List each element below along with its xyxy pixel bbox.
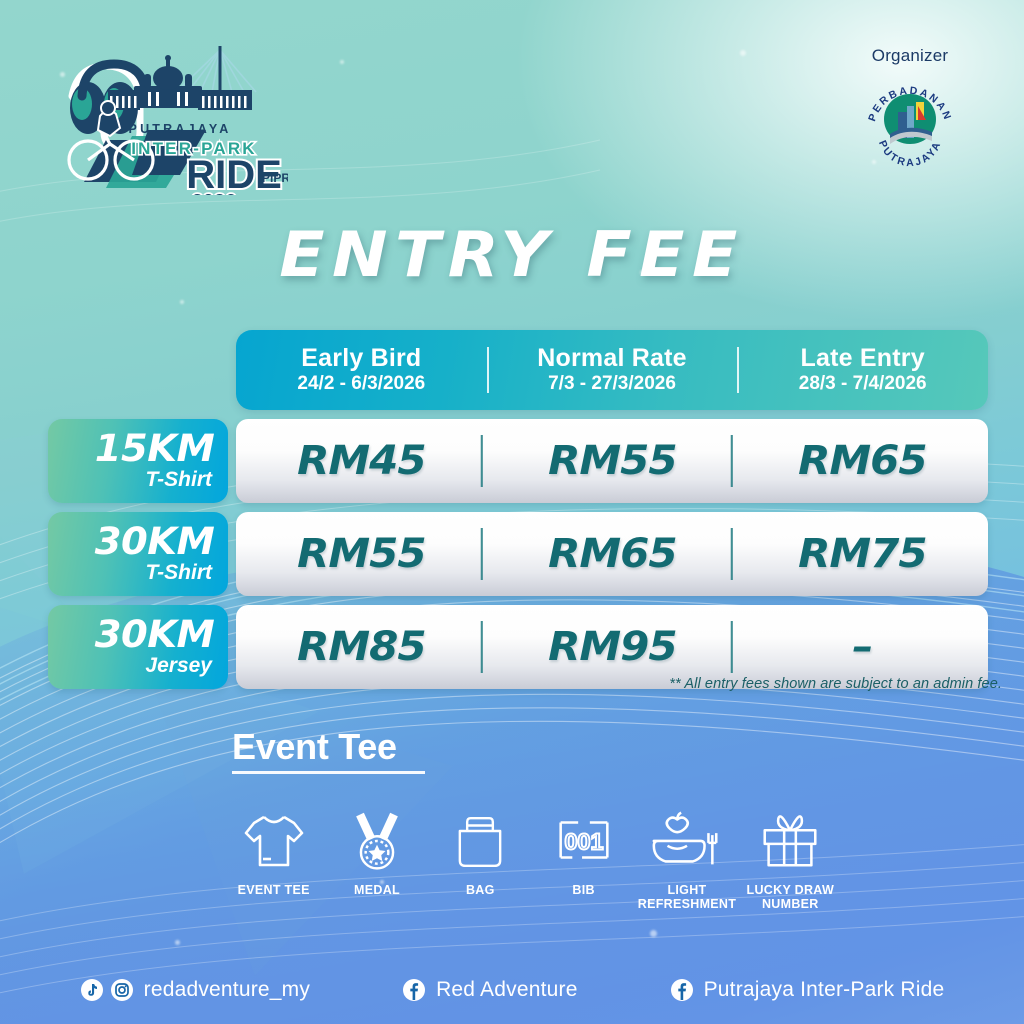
price-cell: RM95 [480, 624, 743, 670]
entry-fee-table: Early Bird 24/2 - 6/3/2026 Normal Rate 7… [48, 330, 988, 689]
row-item-type: T-Shirt [146, 561, 213, 584]
column-dates: 24/2 - 6/3/2026 [236, 373, 487, 395]
entitlement-item: 001 BIB [532, 793, 635, 912]
price-cell: RM45 [230, 438, 493, 484]
entitlement-label: LUCKY DRAW NUMBER [739, 883, 842, 912]
logo-line1: PUTRAJAYA [129, 122, 232, 136]
table-header-row: Early Bird 24/2 - 6/3/2026 Normal Rate 7… [236, 330, 988, 410]
entitlement-item: BAG [429, 793, 532, 912]
entitlement-icon-list: EVENT TEE MEDAL BAG [222, 793, 842, 912]
sparkle [180, 300, 184, 304]
facebook-icon[interactable] [402, 978, 426, 1002]
social-group[interactable]: Putrajaya Inter-Park Ride [670, 978, 945, 1002]
row-price-group: RM55 RM65 RM75 [236, 512, 988, 596]
tiktok-icon[interactable] [80, 978, 104, 1002]
price-cell: – [731, 624, 994, 670]
entitlement-label: LIGHT REFRESHMENT [635, 883, 738, 912]
table-column-header: Late Entry 28/3 - 7/4/2026 [737, 345, 988, 395]
table-row: 15KM T-Shirt RM45 RM55 RM65 [48, 419, 988, 503]
price-cell: RM85 [230, 624, 493, 670]
table-column-header: Early Bird 24/2 - 6/3/2026 [236, 345, 487, 395]
bib-icon: 001 [532, 793, 635, 875]
social-handle[interactable]: Red Adventure [436, 978, 578, 1002]
column-title: Normal Rate [487, 345, 738, 371]
entitlement-item: MEDAL [325, 793, 428, 912]
price-cell: RM55 [230, 531, 493, 577]
sparkle [650, 930, 657, 937]
entitlement-item: EVENT TEE [222, 793, 325, 912]
event-logo: PUTRAJAYA INTER-PARK RIDE PIPR 2026 [48, 30, 288, 195]
table-row: 30KM T-Shirt RM55 RM65 RM75 [48, 512, 988, 596]
table-column-header: Normal Rate 7/3 - 27/3/2026 [487, 345, 738, 395]
row-category-label: 30KM T-Shirt [48, 512, 228, 596]
entitlement-label: EVENT TEE [222, 883, 325, 897]
tshirt-icon [222, 793, 325, 875]
event-tee-underline [232, 771, 425, 774]
price-cell: RM65 [480, 531, 743, 577]
row-distance: 30KM [95, 524, 215, 559]
organizer-block: Organizer PERBADANAN PUTRAJAYA [830, 46, 990, 168]
column-title: Late Entry [737, 345, 988, 371]
social-group[interactable]: redadventure_my [80, 978, 310, 1002]
column-dates: 28/3 - 7/4/2026 [737, 373, 988, 395]
admin-fee-note: ** All entry fees shown are subject to a… [669, 676, 1002, 692]
bib-number: 001 [564, 829, 603, 855]
row-distance: 30KM [95, 617, 215, 652]
row-item-type: T-Shirt [146, 468, 213, 491]
social-handle[interactable]: redadventure_my [144, 978, 310, 1002]
social-group[interactable]: Red Adventure [402, 978, 578, 1002]
organizer-logo: PERBADANAN PUTRAJAYA [862, 72, 958, 168]
price-cell: RM65 [731, 438, 994, 484]
logo-abbr: PIPR [262, 171, 288, 185]
entitlement-item: LIGHT REFRESHMENT [635, 793, 738, 912]
row-item-type: Jersey [145, 654, 212, 677]
logo-year: 2026 [192, 191, 237, 195]
footer-social-bar: redadventure_my Red Adventure Putrajaya … [0, 978, 1024, 1002]
poster-canvas: PUTRAJAYA INTER-PARK RIDE PIPR 2026 Orga… [0, 0, 1024, 1024]
row-category-label: 15KM T-Shirt [48, 419, 228, 503]
price-cell: RM75 [731, 531, 994, 577]
entitlement-label: BAG [429, 883, 532, 897]
entitlement-item: LUCKY DRAW NUMBER [739, 793, 842, 912]
page-title: ENTRY FEE [0, 218, 1024, 291]
bag-icon [429, 793, 532, 875]
medal-icon [325, 793, 428, 875]
column-dates: 7/3 - 27/3/2026 [487, 373, 738, 395]
facebook-icon[interactable] [670, 978, 694, 1002]
row-price-group: RM45 RM55 RM65 [236, 419, 988, 503]
entitlement-label: BIB [532, 883, 635, 897]
sparkle [740, 50, 746, 56]
price-cell: RM55 [480, 438, 743, 484]
row-distance: 15KM [95, 431, 215, 466]
entitlement-label: MEDAL [325, 883, 428, 897]
organizer-label: Organizer [830, 46, 990, 66]
instagram-icon[interactable] [110, 978, 134, 1002]
sparkle [175, 940, 180, 945]
refreshment-icon [635, 793, 738, 875]
social-handle[interactable]: Putrajaya Inter-Park Ride [704, 978, 945, 1002]
column-title: Early Bird [236, 345, 487, 371]
sparkle [340, 60, 344, 64]
row-category-label: 30KM Jersey [48, 605, 228, 689]
event-tee-heading: Event Tee [232, 726, 397, 768]
gift-icon [739, 793, 842, 875]
